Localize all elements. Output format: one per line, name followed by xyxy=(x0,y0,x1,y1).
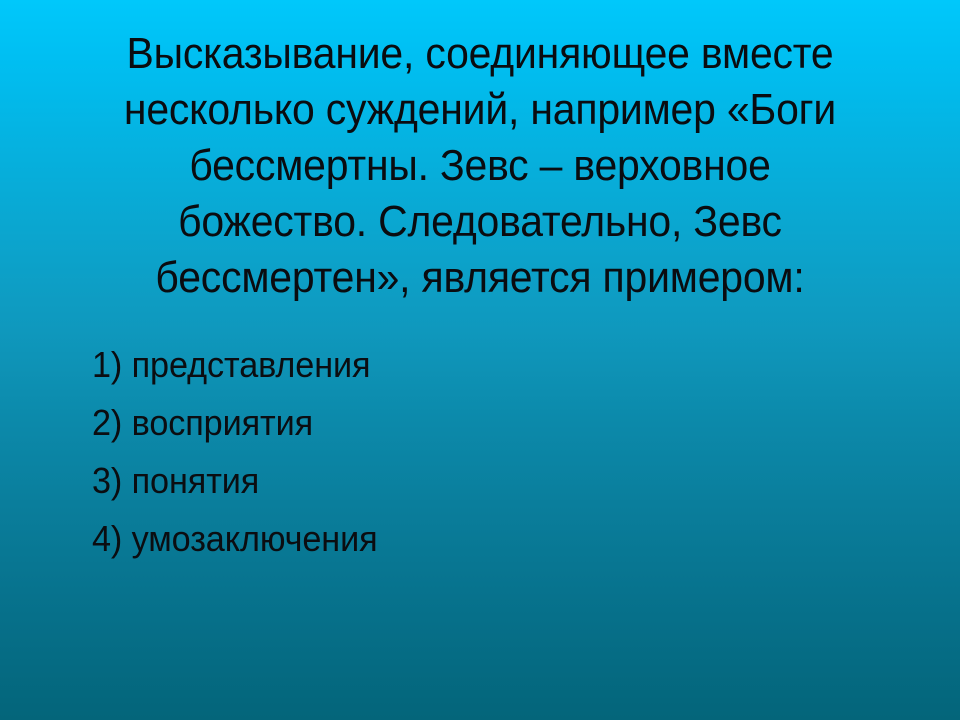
question-line-5: бессмертен», является примером: xyxy=(69,250,891,306)
answer-options-list: 1) представления 2) восприятия 3) поняти… xyxy=(92,336,832,568)
question-line-1: Высказывание, соединяющее вместе xyxy=(69,26,891,82)
answer-option-3[interactable]: 3) понятия xyxy=(92,452,795,510)
question-line-2: несколько суждений, например «Боги xyxy=(69,82,891,138)
question-line-3: бессмертны. Зевс – верховное xyxy=(69,138,891,194)
answer-option-2[interactable]: 2) восприятия xyxy=(92,394,795,452)
answer-option-4[interactable]: 4) умозаключения xyxy=(92,510,795,568)
slide-canvas: Высказывание, соединяющее вместе несколь… xyxy=(0,0,960,720)
question-text: Высказывание, соединяющее вместе несколь… xyxy=(38,26,922,306)
question-line-4: божество. Следовательно, Зевс xyxy=(69,194,891,250)
answer-option-1[interactable]: 1) представления xyxy=(92,336,795,394)
